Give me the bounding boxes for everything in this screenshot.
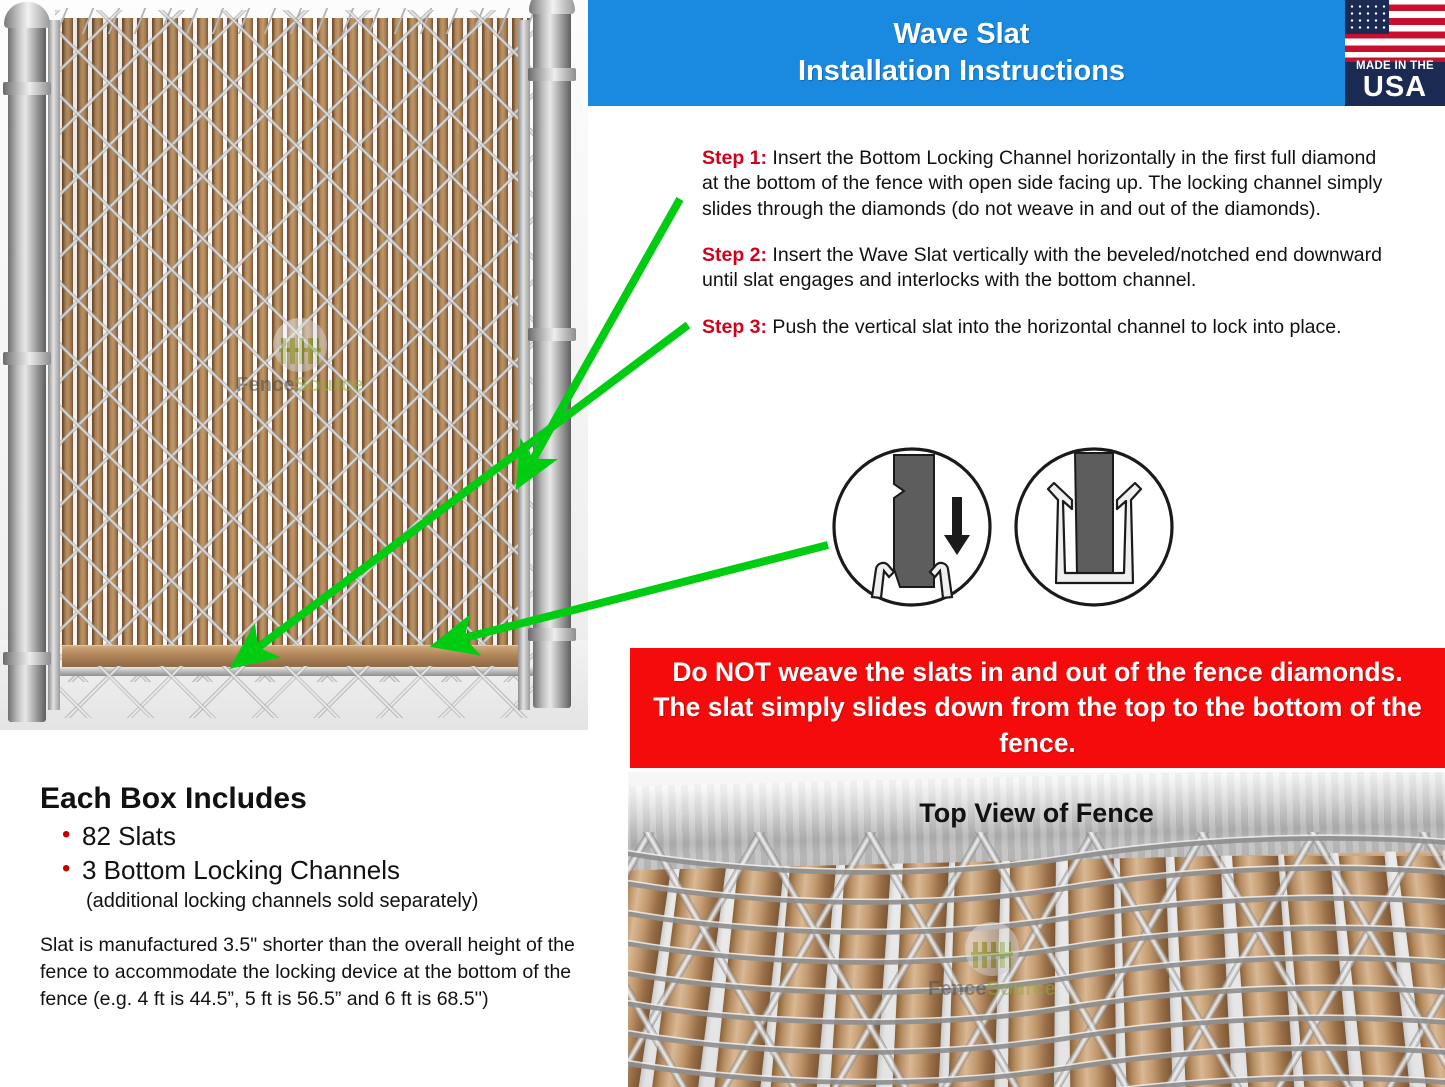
fence-post-right [533, 8, 571, 708]
step-1-label: Step 1: [702, 147, 767, 169]
chain-link-mesh [55, 10, 537, 682]
made-in-usa-text: MADE IN THE USA [1345, 60, 1445, 102]
instruction-steps: Step 1: Insert the Bottom Locking Channe… [702, 146, 1392, 361]
flag-canton [1345, 0, 1389, 34]
title-line-1: Wave Slat [588, 16, 1335, 53]
top-view-chain-link [628, 832, 1445, 1087]
step-3-label: Step 3: [702, 316, 767, 338]
step-2-text: Insert the Wave Slat vertically with the… [702, 244, 1382, 291]
step-3-text: Push the vertical slat into the horizont… [767, 316, 1342, 338]
step-2-label: Step 2: [702, 244, 767, 266]
page-title: Wave Slat Installation Instructions [588, 16, 1335, 90]
gate-frame-left [48, 20, 60, 710]
top-view-label: Top View of Fence [628, 798, 1445, 829]
each-box-includes-section: Each Box Includes 82 Slats 3 Bottom Lock… [40, 782, 600, 913]
infographic-page: FenceSource Wave Slat Installation Instr… [0, 0, 1445, 1087]
made-in-usa-badge: MADE IN THE USA [1345, 0, 1445, 106]
post-band [528, 68, 576, 81]
fence-photo-top-view: Top View of Fence FenceSource [628, 772, 1445, 1087]
step-3: Step 3: Push the vertical slat into the … [702, 315, 1392, 340]
diagram-slat-locked [1016, 449, 1172, 605]
post-cap-right [529, 0, 575, 14]
warning-banner: Do NOT weave the slats in and out of the… [630, 648, 1445, 768]
post-band [528, 628, 576, 641]
gate-frame-right [518, 20, 530, 710]
post-band [3, 82, 51, 95]
box-includes-list: 82 Slats 3 Bottom Locking Channels [62, 820, 600, 888]
title-line-2: Installation Instructions [588, 53, 1335, 90]
lock-detail-diagram [832, 443, 1182, 611]
bottom-locking-channel [62, 645, 530, 667]
post-band [3, 352, 51, 365]
badge-line-2: USA [1345, 73, 1445, 102]
diagram-slat-inserting [834, 449, 990, 605]
chain-link-mesh-lower [58, 666, 534, 718]
list-item: 82 Slats [62, 820, 600, 854]
post-cap-left [4, 2, 50, 28]
box-includes-heading: Each Box Includes [40, 782, 600, 816]
fence-photo-main: FenceSource [0, 0, 588, 730]
step-1-text: Insert the Bottom Locking Channel horizo… [702, 147, 1382, 220]
step-2: Step 2: Insert the Wave Slat vertically … [702, 243, 1392, 294]
fence-post-left [8, 22, 46, 722]
box-includes-subnote: (additional locking channels sold separa… [86, 890, 600, 913]
slat-measurement-note: Slat is manufactured 3.5" shorter than t… [40, 932, 600, 1013]
list-item: 3 Bottom Locking Channels [62, 854, 600, 888]
american-flag-icon [1345, 0, 1445, 62]
post-band [528, 328, 576, 341]
warning-text: Do NOT weave the slats in and out of the… [648, 655, 1427, 762]
header-banner: Wave Slat Installation Instructions MADE… [588, 0, 1445, 106]
step-1: Step 1: Insert the Bottom Locking Channe… [702, 146, 1392, 222]
post-band [3, 652, 51, 665]
